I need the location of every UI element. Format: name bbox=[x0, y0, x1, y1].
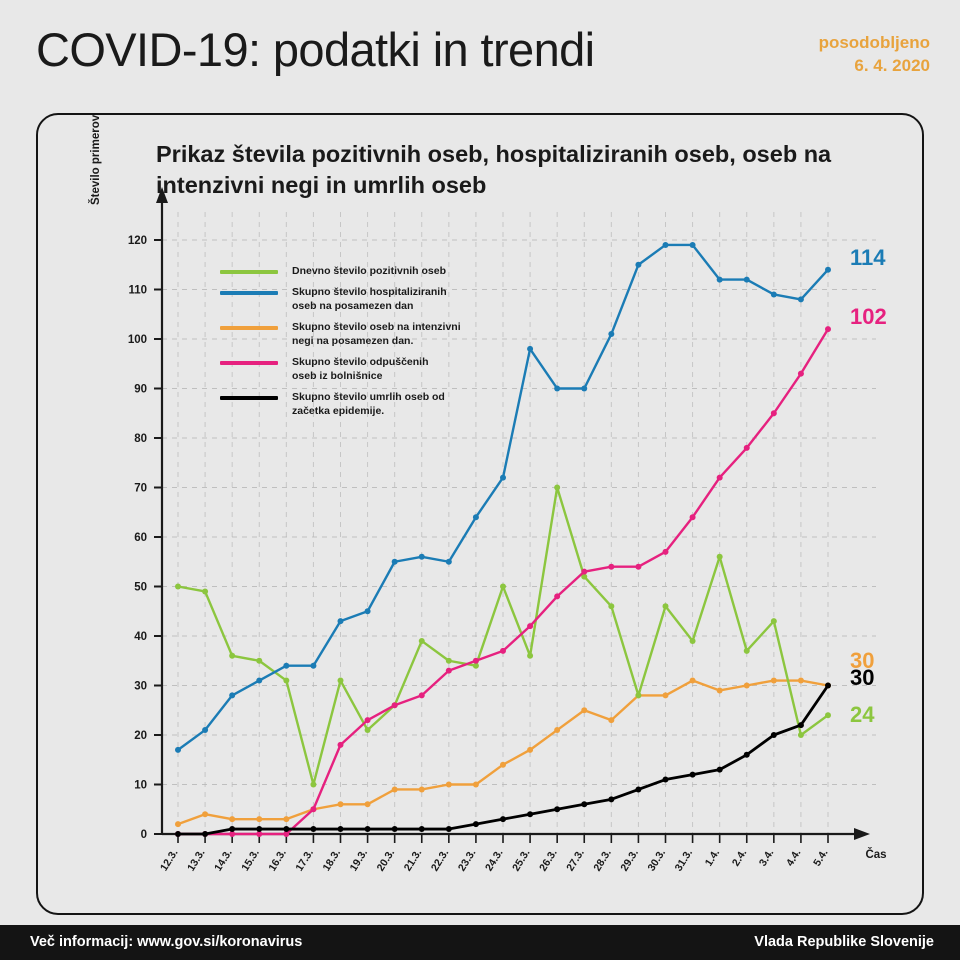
data-point bbox=[338, 742, 344, 748]
data-point bbox=[744, 277, 750, 283]
svg-text:18.3.: 18.3. bbox=[320, 847, 343, 873]
svg-text:26.3.: 26.3. bbox=[537, 847, 560, 873]
data-point bbox=[798, 678, 804, 684]
data-point bbox=[744, 683, 750, 689]
data-point bbox=[283, 826, 289, 832]
data-point bbox=[392, 702, 398, 708]
data-point bbox=[635, 786, 641, 792]
svg-text:80: 80 bbox=[134, 433, 147, 445]
data-point bbox=[202, 831, 208, 837]
legend-item: Skupno število oseb na intenzivni negi n… bbox=[220, 321, 510, 349]
data-point bbox=[473, 782, 479, 788]
data-point bbox=[771, 678, 777, 684]
svg-text:25.3.: 25.3. bbox=[510, 847, 533, 873]
data-point bbox=[798, 296, 804, 302]
data-point bbox=[310, 806, 316, 812]
svg-text:29.3.: 29.3. bbox=[618, 847, 641, 873]
data-point bbox=[690, 678, 696, 684]
data-point bbox=[419, 826, 425, 832]
data-point bbox=[690, 514, 696, 520]
data-point bbox=[581, 801, 587, 807]
data-point bbox=[365, 826, 371, 832]
data-point bbox=[229, 653, 235, 659]
svg-text:31.3.: 31.3. bbox=[673, 847, 696, 873]
data-point bbox=[500, 648, 506, 654]
data-point bbox=[744, 648, 750, 654]
data-point bbox=[473, 514, 479, 520]
data-point bbox=[446, 782, 452, 788]
data-point bbox=[663, 777, 669, 783]
legend-item-label: Skupno število umrlih oseb od začetka ep… bbox=[292, 391, 445, 419]
svg-text:40: 40 bbox=[134, 631, 147, 643]
svg-text:120: 120 bbox=[128, 235, 147, 247]
data-point bbox=[771, 732, 777, 738]
data-point bbox=[256, 816, 262, 822]
data-point bbox=[608, 603, 614, 609]
data-point bbox=[744, 445, 750, 451]
data-point bbox=[798, 722, 804, 728]
data-point bbox=[446, 826, 452, 832]
legend-item: Skupno število odpuščenih oseb iz bolniš… bbox=[220, 356, 510, 384]
svg-text:5.4.: 5.4. bbox=[811, 847, 831, 868]
footer-info-link[interactable]: Več informacij: www.gov.si/koronavirus bbox=[30, 934, 302, 950]
legend-item: Dnevno število pozitivnih oseb bbox=[220, 265, 510, 279]
svg-text:70: 70 bbox=[134, 483, 147, 495]
data-point bbox=[202, 588, 208, 594]
legend-item: Skupno število umrlih oseb od začetka ep… bbox=[220, 391, 510, 419]
svg-text:17.3.: 17.3. bbox=[293, 847, 316, 873]
data-point bbox=[283, 663, 289, 669]
data-point bbox=[690, 638, 696, 644]
data-point bbox=[473, 658, 479, 664]
data-point bbox=[527, 653, 533, 659]
svg-text:100: 100 bbox=[128, 334, 147, 346]
data-point bbox=[310, 826, 316, 832]
data-point bbox=[419, 638, 425, 644]
data-point bbox=[527, 811, 533, 817]
data-point bbox=[717, 554, 723, 560]
page-footer: Več informacij: www.gov.si/koronavirus V… bbox=[0, 925, 960, 960]
page-header: COVID-19: podatki in trendi posodobljeno… bbox=[0, 0, 960, 112]
line-chart: 010203040506070809010011012012.3.13.3.14… bbox=[38, 115, 926, 917]
data-point bbox=[229, 826, 235, 832]
data-point bbox=[608, 796, 614, 802]
data-point bbox=[554, 593, 560, 599]
data-point bbox=[663, 692, 669, 698]
svg-text:4.4.: 4.4. bbox=[784, 847, 804, 868]
data-point bbox=[663, 603, 669, 609]
svg-text:22.3.: 22.3. bbox=[429, 847, 452, 873]
data-point bbox=[825, 326, 831, 332]
data-point bbox=[256, 658, 262, 664]
data-point bbox=[365, 717, 371, 723]
infographic-page: COVID-19: podatki in trendi posodobljeno… bbox=[0, 0, 960, 960]
data-point bbox=[581, 386, 587, 392]
updated-date: 6. 4. 2020 bbox=[819, 55, 930, 78]
svg-text:90: 90 bbox=[134, 384, 147, 396]
data-point bbox=[338, 678, 344, 684]
data-point bbox=[310, 782, 316, 788]
data-point bbox=[527, 346, 533, 352]
x-axis-ticks: 12.3.13.3.14.3.15.3.16.3.17.3.18.3.19.3.… bbox=[158, 834, 887, 873]
data-point bbox=[365, 608, 371, 614]
data-point bbox=[554, 386, 560, 392]
data-point bbox=[608, 564, 614, 570]
legend-color-swatch bbox=[220, 326, 278, 330]
svg-text:2.4.: 2.4. bbox=[730, 847, 750, 868]
svg-text:16.3.: 16.3. bbox=[266, 847, 289, 873]
plot-area: Število primerov 01020304050607080901001… bbox=[38, 115, 926, 917]
data-point bbox=[635, 692, 641, 698]
svg-text:27.3.: 27.3. bbox=[564, 847, 587, 873]
data-point bbox=[554, 727, 560, 733]
chart-card: Prikaz števila pozitivnih oseb, hospital… bbox=[36, 113, 924, 915]
page-title: COVID-19: podatki in trendi bbox=[36, 22, 595, 77]
svg-text:13.3.: 13.3. bbox=[185, 847, 208, 873]
svg-text:12.3.: 12.3. bbox=[158, 847, 181, 873]
end-value-label: 30 bbox=[850, 665, 874, 691]
svg-text:15.3.: 15.3. bbox=[239, 847, 262, 873]
legend-item-label: Dnevno število pozitivnih oseb bbox=[292, 265, 446, 279]
svg-text:19.3.: 19.3. bbox=[348, 847, 371, 873]
data-point bbox=[175, 831, 181, 837]
data-point bbox=[392, 786, 398, 792]
data-point bbox=[310, 663, 316, 669]
legend-color-swatch bbox=[220, 396, 278, 400]
legend-item-label: Skupno število hospitaliziranih oseb na … bbox=[292, 286, 447, 314]
svg-text:30.3.: 30.3. bbox=[645, 847, 668, 873]
data-point bbox=[825, 267, 831, 273]
data-point bbox=[419, 692, 425, 698]
data-point bbox=[690, 242, 696, 248]
data-point bbox=[717, 687, 723, 693]
end-value-label: 24 bbox=[850, 702, 874, 728]
data-point bbox=[283, 678, 289, 684]
data-point bbox=[717, 767, 723, 773]
data-point bbox=[554, 485, 560, 491]
updated-label: posodobljeno bbox=[819, 32, 930, 55]
svg-text:3.4.: 3.4. bbox=[757, 847, 777, 868]
data-point bbox=[500, 816, 506, 822]
data-point bbox=[338, 826, 344, 832]
data-point bbox=[663, 549, 669, 555]
svg-text:110: 110 bbox=[128, 285, 147, 297]
data-point bbox=[717, 475, 723, 481]
updated-stamp: posodobljeno 6. 4. 2020 bbox=[819, 32, 930, 78]
end-value-label: 102 bbox=[850, 304, 887, 330]
y-axis-ticks: 0102030405060708090100110120 bbox=[128, 235, 162, 841]
data-point bbox=[717, 277, 723, 283]
data-point bbox=[283, 816, 289, 822]
legend-item: Skupno število hospitaliziranih oseb na … bbox=[220, 286, 510, 314]
data-point bbox=[256, 826, 262, 832]
data-point bbox=[419, 554, 425, 560]
data-point bbox=[202, 727, 208, 733]
data-point bbox=[256, 678, 262, 684]
data-point bbox=[581, 707, 587, 713]
data-point bbox=[392, 826, 398, 832]
data-point bbox=[446, 668, 452, 674]
data-point bbox=[825, 683, 831, 689]
data-point bbox=[202, 811, 208, 817]
data-point bbox=[446, 559, 452, 565]
data-point bbox=[229, 816, 235, 822]
data-point bbox=[365, 801, 371, 807]
svg-text:28.3.: 28.3. bbox=[591, 847, 614, 873]
data-point bbox=[338, 618, 344, 624]
data-point bbox=[690, 772, 696, 778]
data-point bbox=[771, 291, 777, 297]
data-point bbox=[608, 331, 614, 337]
data-point bbox=[663, 242, 669, 248]
data-point bbox=[229, 692, 235, 698]
end-value-label: 114 bbox=[850, 245, 886, 271]
data-point bbox=[392, 559, 398, 565]
data-point bbox=[500, 584, 506, 590]
legend-item-label: Skupno število oseb na intenzivni negi n… bbox=[292, 321, 461, 349]
data-point bbox=[175, 747, 181, 753]
svg-text:14.3.: 14.3. bbox=[212, 847, 235, 873]
svg-text:0: 0 bbox=[141, 829, 147, 841]
data-point bbox=[473, 821, 479, 827]
data-point bbox=[635, 564, 641, 570]
data-point bbox=[500, 762, 506, 768]
svg-text:50: 50 bbox=[134, 582, 147, 594]
svg-text:24.3.: 24.3. bbox=[483, 847, 506, 873]
legend-item-label: Skupno število odpuščenih oseb iz bolniš… bbox=[292, 356, 429, 384]
data-point bbox=[365, 727, 371, 733]
data-point bbox=[635, 262, 641, 268]
data-point bbox=[175, 821, 181, 827]
data-point bbox=[798, 732, 804, 738]
data-point bbox=[338, 801, 344, 807]
data-point bbox=[825, 712, 831, 718]
svg-text:60: 60 bbox=[134, 532, 147, 544]
chart-legend: Dnevno število pozitivnih osebSkupno šte… bbox=[220, 265, 510, 426]
data-point bbox=[419, 786, 425, 792]
data-point bbox=[446, 658, 452, 664]
svg-text:20: 20 bbox=[134, 730, 147, 742]
data-point bbox=[554, 806, 560, 812]
svg-text:23.3.: 23.3. bbox=[456, 847, 479, 873]
footer-organization: Vlada Republike Slovenije bbox=[754, 934, 934, 950]
svg-text:21.3.: 21.3. bbox=[402, 847, 425, 873]
svg-text:20.3.: 20.3. bbox=[375, 847, 398, 873]
data-point bbox=[798, 371, 804, 377]
x-axis-title: Čas bbox=[865, 848, 886, 861]
legend-color-swatch bbox=[220, 291, 278, 295]
svg-text:30: 30 bbox=[134, 681, 147, 693]
svg-text:1.4.: 1.4. bbox=[703, 847, 723, 868]
data-point bbox=[527, 623, 533, 629]
data-point bbox=[744, 752, 750, 758]
data-point bbox=[581, 569, 587, 575]
data-point bbox=[608, 717, 614, 723]
data-point bbox=[500, 475, 506, 481]
data-point bbox=[527, 747, 533, 753]
legend-color-swatch bbox=[220, 361, 278, 365]
data-point bbox=[771, 618, 777, 624]
data-point bbox=[771, 410, 777, 416]
svg-text:10: 10 bbox=[134, 780, 147, 792]
legend-color-swatch bbox=[220, 270, 278, 274]
data-point bbox=[175, 584, 181, 590]
